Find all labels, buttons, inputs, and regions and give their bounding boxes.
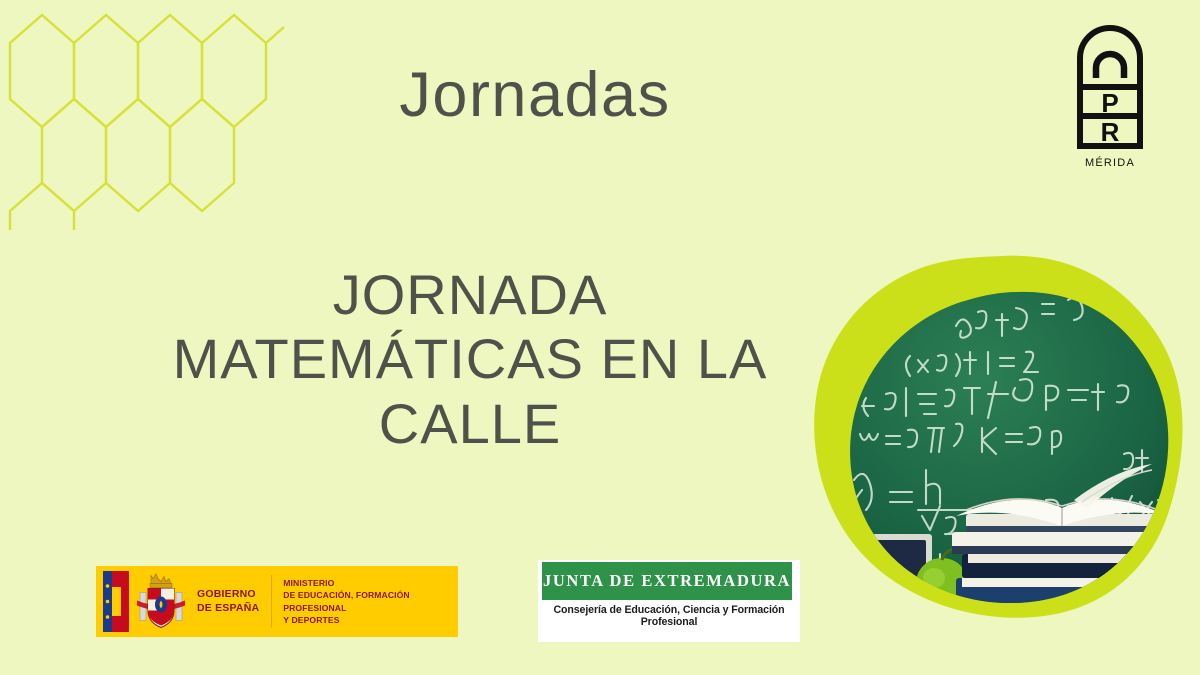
cpr-letter-p: P [1101,88,1118,118]
gobierno-line-2: DE ESPAÑA [197,602,259,615]
gobierno-label: GOBIERNO DE ESPAÑA [187,566,271,637]
heading-line-1: JORNADA [120,263,820,327]
cpr-merida-logo: P R MÉRIDA [1062,14,1174,174]
gobierno-line-1: GOBIERNO [197,588,259,601]
gobierno-de-espana-logo: GOBIERNO DE ESPAÑA MINISTERIO DE EDUCACI… [96,566,458,637]
cpr-letter-r: R [1101,117,1120,147]
spain-coat-of-arms-icon [135,566,187,637]
ministerio-line-1: MINISTERIO [283,577,458,589]
ministerio-line-3: Y DEPORTES [283,614,458,626]
cpr-caption: MÉRIDA [1085,156,1135,169]
spain-eu-flag-icon [103,571,129,632]
arch-glyph-icon [1096,54,1124,78]
slide-eyebrow-title: Jornadas [0,62,1070,128]
ministerio-line-2: DE EDUCACIÓN, FORMACIÓN PROFESIONAL [283,589,458,613]
heading-line-3: CALLE [120,392,820,456]
heading-line-2: MATEMÁTICAS EN LA [120,327,820,391]
presentation-slide: P R MÉRIDA Jornadas JORNADA MATEMÁTICAS … [0,0,1200,675]
junta-de-extremadura-logo: JUNTA DE EXTREMADURA Consejería de Educa… [538,560,800,642]
chalkboard-photo-blob [806,248,1192,620]
junta-band-title: JUNTA DE EXTREMADURA [542,562,792,600]
slide-main-heading: JORNADA MATEMÁTICAS EN LA CALLE [120,263,820,456]
junta-subtitle: Consejería de Educación, Ciencia y Forma… [538,604,800,628]
ministerio-label: MINISTERIO DE EDUCACIÓN, FORMACIÓN PROFE… [272,566,458,637]
